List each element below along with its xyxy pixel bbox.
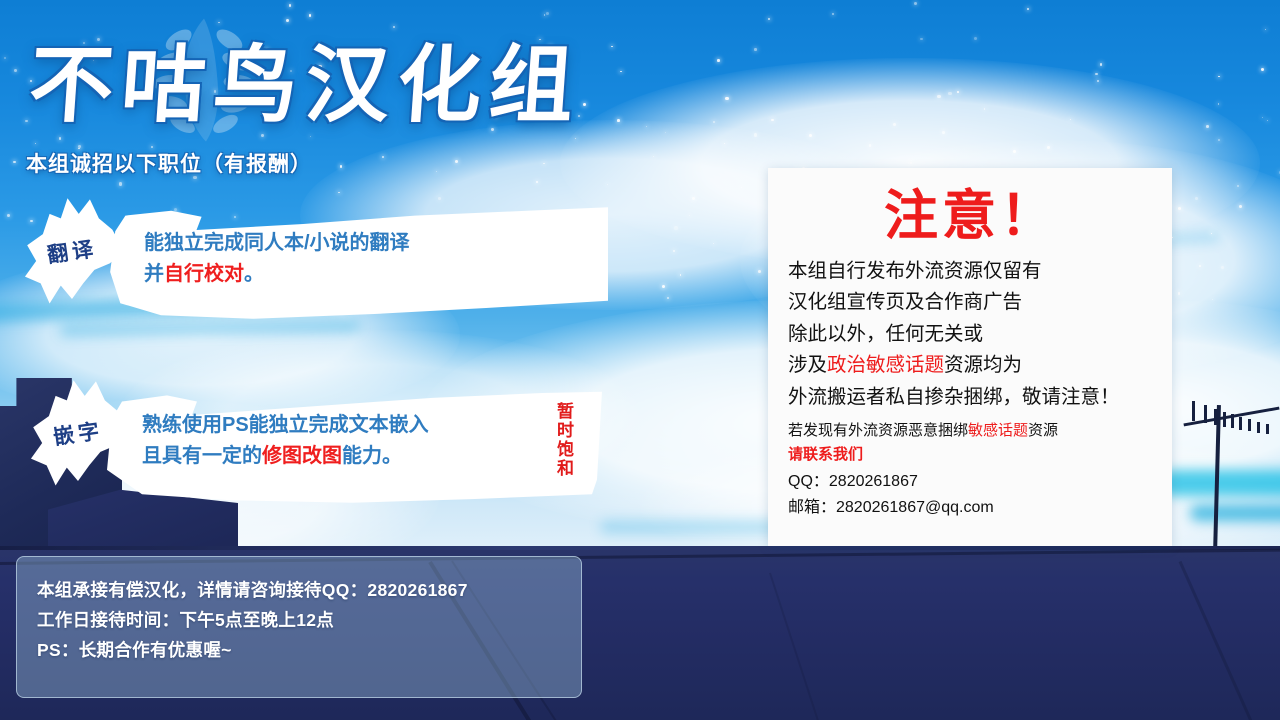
requirement-highlight: 修图改图 [262,445,342,467]
requirement-prefix: 且具有一定的 [142,445,262,467]
requirement-suffix: 能力。 [342,445,402,467]
page-title: 不咕鸟汉化组 [26,18,586,139]
info-bar-line: 本组承接有偿汉化，详情请咨询接待QQ：2820261867 [37,575,581,605]
email-contact[interactable]: 邮箱：2820261867@qq.com [788,495,1154,521]
requirement-prefix: 并 [144,263,164,285]
info-bar-line: PS：长期合作有优惠喔~ [37,635,581,665]
notice-line: 本组自行发布外流资源仅留有 [788,256,1154,288]
position-card-typeset: 熟练使用PS能独立完成文本嵌入 且具有一定的修图改图能力。 暂时饱和 [102,382,602,504]
notice-line: 外流搬运者私自掺杂捆绑，敬请注意！ [788,382,1154,414]
contact-us-link[interactable]: 请联系我们 [788,443,1154,467]
notice-line: 除此以外，任何无关或 [788,319,1154,351]
notice-sub-suffix: 资源 [1028,422,1058,439]
info-bar-line: 工作日接待时间：下午5点至晚上12点 [37,605,581,635]
position-requirements-typeset: 熟练使用PS能独立完成文本嵌入 且具有一定的修图改图能力。 [142,410,572,472]
notice-title: 注意！ [788,182,1154,250]
requirement-line: 能独立完成同人本/小说的翻译 [144,228,578,259]
notice-sub-prefix: 若发现有外流资源恶意捆绑 [788,422,968,439]
requirement-highlight: 自行校对 [164,263,244,285]
notice-panel: 注意！ 本组自行发布外流资源仅留有 汉化组宣传页及合作商广告 除此以外，任何无关… [768,168,1172,546]
notice-line: 涉及政治敏感话题资源均为 [788,350,1154,382]
requirement-line: 并自行校对。 [144,259,578,290]
position-status-badge: 暂时饱和 [551,402,576,478]
page-subtitle: 本组诚招以下职位（有报酬） [26,148,312,178]
notice-suffix: 资源均为 [944,354,1022,376]
dove-badge-typeset: 嵌字 [22,378,134,490]
notice-subtext: 若发现有外流资源恶意捆绑敏感话题资源 请联系我们 [788,419,1154,466]
dove-badge-translate: 翻译 [16,196,128,308]
notice-sub-highlight: 敏感话题 [968,422,1028,439]
requirement-suffix: 。 [244,263,264,285]
rooftop-edge [0,546,1280,550]
notice-highlight: 政治敏感话题 [827,354,944,376]
notice-body: 本组自行发布外流资源仅留有 汉化组宣传页及合作商广告 除此以外，任何无关或 涉及… [788,256,1154,414]
notice-line: 汉化组宣传页及合作商广告 [788,287,1154,319]
cyan-streak [1190,505,1280,521]
poster-canvas: 不咕鸟汉化组 本组诚招以下职位（有报酬） 能独立完成同人本/小说的翻译 并自行校… [0,0,1280,720]
cyan-streak [1160,470,1280,496]
requirement-line: 熟练使用PS能独立完成文本嵌入 [142,410,572,441]
contact-info: QQ：2820261867 邮箱：2820261867@qq.com [788,469,1154,521]
requirement-line: 且具有一定的修图改图能力。 [142,441,572,472]
notice-prefix: 涉及 [788,354,827,376]
qq-contact[interactable]: QQ：2820261867 [788,469,1154,495]
notice-sub-line: 若发现有外流资源恶意捆绑敏感话题资源 [788,419,1154,443]
bottom-info-bar: 本组承接有偿汉化，详情请咨询接待QQ：2820261867 工作日接待时间：下午… [16,556,582,698]
position-requirements-translate: 能独立完成同人本/小说的翻译 并自行校对。 [144,228,578,290]
position-card-translate: 能独立完成同人本/小说的翻译 并自行校对。 [100,200,608,320]
